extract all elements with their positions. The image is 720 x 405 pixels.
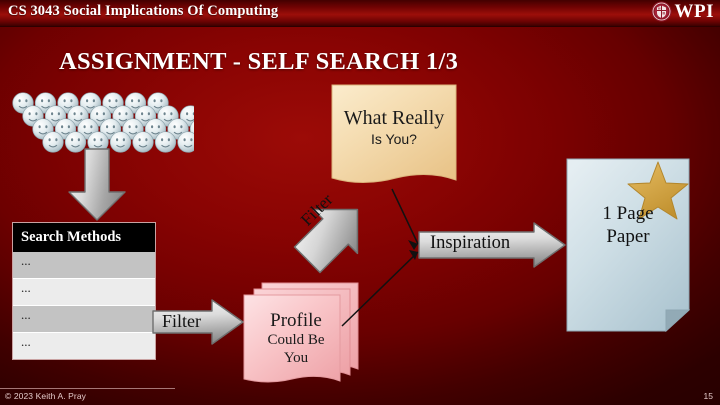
paper-label-group: 1 Page Paper (566, 202, 690, 248)
paper-line-2: Paper (566, 225, 690, 248)
arrow-down-icon (66, 148, 128, 222)
table-row[interactable]: ... (13, 252, 155, 279)
profile-title: Profile (244, 311, 348, 331)
footer-copyright: © 2023 Keith A. Pray (5, 391, 86, 401)
wpi-seal-icon (651, 1, 672, 22)
table-row[interactable]: ... (13, 306, 155, 333)
profile-subtitle-line-2: You (244, 350, 348, 367)
people-crowd-icon (4, 92, 194, 154)
wpi-wordmark: WPI (675, 1, 715, 22)
what-really-subtitle: Is You? (330, 132, 458, 147)
filter-arrow-1-label: Filter (162, 311, 201, 332)
table-header-search-methods: Search Methods (13, 223, 155, 252)
inspiration-arrow-label: Inspiration (430, 233, 510, 254)
what-really-title: What Really (330, 108, 458, 129)
person-icon (155, 132, 176, 153)
connector-lines (340, 180, 450, 380)
person-icon (133, 132, 154, 153)
search-methods-table[interactable]: Search Methods ... ... ... ... (12, 222, 156, 360)
presentation-slide: CS 3043 Social Implications Of Computing… (0, 0, 720, 405)
footer-page-number: 15 (704, 391, 713, 401)
profile-subtitle-line-1: Could Be (244, 332, 348, 349)
course-header-title: CS 3043 Social Implications Of Computing (8, 3, 278, 20)
footer-divider (0, 388, 175, 389)
table-row[interactable]: ... (13, 333, 155, 359)
person-icon (43, 132, 64, 153)
slide-header-bar: CS 3043 Social Implications Of Computing… (0, 0, 720, 27)
slide-title: ASSIGNMENT - SELF SEARCH 1/3 (59, 48, 458, 76)
wpi-logo: WPI (651, 1, 715, 22)
table-row[interactable]: ... (13, 279, 155, 306)
what-really-label-group: What Really Is You? (330, 108, 458, 147)
profile-label-group: Profile Could Be You (244, 311, 348, 367)
people-crowd-group (4, 92, 194, 152)
paper-line-1: 1 Page (566, 202, 690, 225)
